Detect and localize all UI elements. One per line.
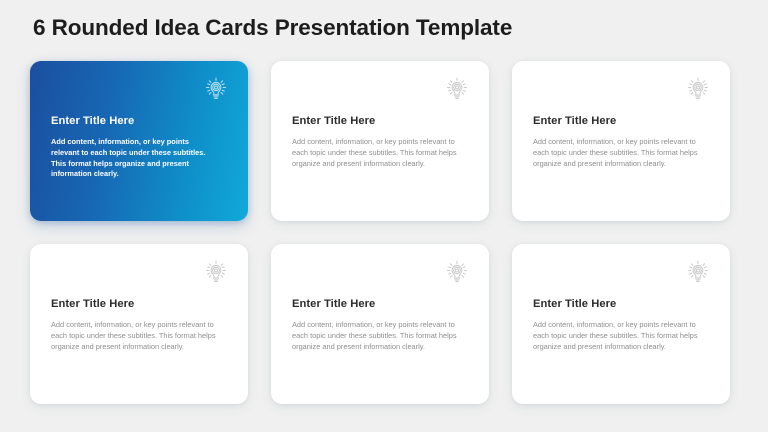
- idea-card-4-body: Enter Title Here Add content, informatio…: [51, 298, 232, 352]
- lightbulb-idea-icon: [442, 258, 472, 288]
- lightbulb-idea-icon: [683, 75, 713, 105]
- idea-card-1-body: Enter Title Here Add content, informatio…: [51, 115, 232, 180]
- presentation-slide: 6 Rounded Idea Cards Presentation Templa…: [0, 0, 768, 432]
- idea-card-2-text: Add content, information, or key points …: [292, 137, 460, 169]
- lightbulb-idea-icon: [201, 75, 231, 105]
- lightbulb-idea-icon: [442, 75, 472, 105]
- idea-card-5-body: Enter Title Here Add content, informatio…: [292, 298, 473, 352]
- idea-card-3-heading: Enter Title Here: [533, 115, 714, 127]
- idea-card-3-body: Enter Title Here Add content, informatio…: [533, 115, 714, 169]
- idea-card-4[interactable]: Enter Title Here Add content, informatio…: [30, 244, 248, 404]
- idea-card-5-heading: Enter Title Here: [292, 298, 473, 310]
- idea-card-4-text: Add content, information, or key points …: [51, 320, 219, 352]
- idea-card-2[interactable]: Enter Title Here Add content, informatio…: [271, 61, 489, 221]
- idea-card-5-text: Add content, information, or key points …: [292, 320, 460, 352]
- lightbulb-idea-icon: [201, 258, 231, 288]
- idea-card-6[interactable]: Enter Title Here Add content, informatio…: [512, 244, 730, 404]
- idea-card-6-heading: Enter Title Here: [533, 298, 714, 310]
- idea-card-1[interactable]: Enter Title Here Add content, informatio…: [30, 61, 248, 221]
- idea-card-2-body: Enter Title Here Add content, informatio…: [292, 115, 473, 169]
- idea-card-5[interactable]: Enter Title Here Add content, informatio…: [271, 244, 489, 404]
- idea-card-6-text: Add content, information, or key points …: [533, 320, 701, 352]
- idea-card-6-body: Enter Title Here Add content, informatio…: [533, 298, 714, 352]
- page-title: 6 Rounded Idea Cards Presentation Templa…: [33, 15, 512, 41]
- idea-card-3-text: Add content, information, or key points …: [533, 137, 701, 169]
- idea-card-1-text: Add content, information, or key points …: [51, 137, 219, 180]
- lightbulb-idea-icon: [683, 258, 713, 288]
- idea-card-grid: Enter Title Here Add content, informatio…: [30, 61, 730, 404]
- idea-card-2-heading: Enter Title Here: [292, 115, 473, 127]
- idea-card-3[interactable]: Enter Title Here Add content, informatio…: [512, 61, 730, 221]
- idea-card-1-heading: Enter Title Here: [51, 115, 232, 127]
- idea-card-4-heading: Enter Title Here: [51, 298, 232, 310]
